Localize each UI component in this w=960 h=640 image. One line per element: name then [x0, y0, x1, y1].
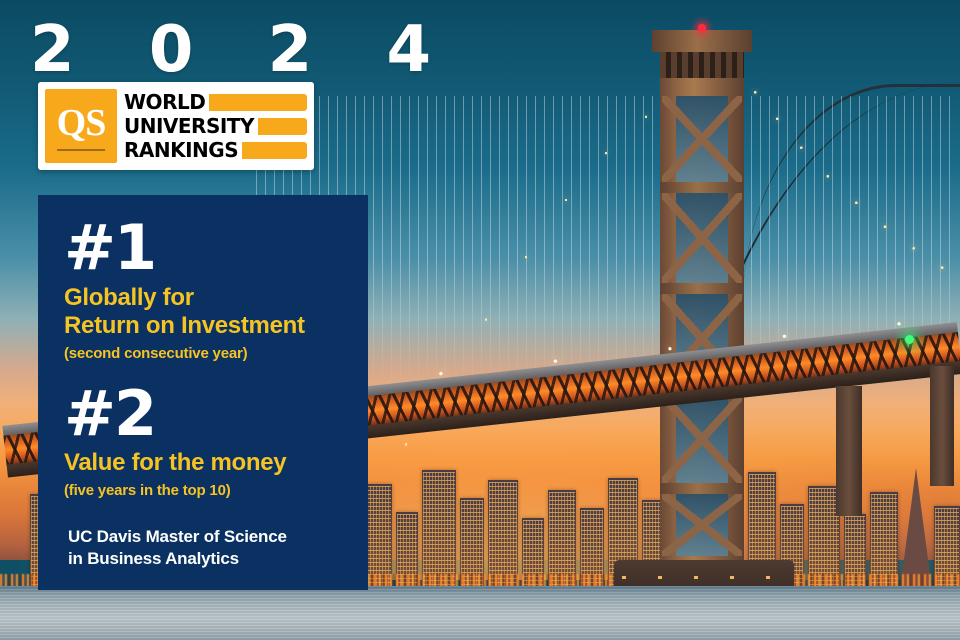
rank-number-2: #2 [64, 385, 346, 444]
qs-word-university: UNIVERSITY [124, 116, 254, 136]
program-name-line1: UC Davis Master of Science [68, 526, 346, 548]
qs-word-rankings: RANKINGS [124, 140, 238, 160]
ranking-block-1: #1 Globally for Return on Investment (se… [64, 219, 346, 363]
qs-logo-line-world: WORLD [124, 91, 307, 113]
navigation-green-light [905, 335, 914, 344]
rankings-info-panel: #1 Globally for Return on Investment (se… [38, 195, 368, 590]
rank-number-1: #1 [64, 219, 346, 278]
qs-logo-line-university: UNIVERSITY [124, 115, 307, 137]
qs-logo-line-rankings: RANKINGS [124, 139, 307, 161]
rank-note-1: (second consecutive year) [64, 345, 346, 363]
qs-monogram-underline [57, 149, 105, 151]
program-name: UC Davis Master of Science in Business A… [68, 526, 346, 570]
ranking-block-2: #2 Value for the money (five years in th… [64, 385, 346, 501]
qs-accent-bar-2 [258, 118, 307, 135]
cable-necklace-lights-right [742, 78, 960, 318]
program-name-line2: in Business Analytics [68, 548, 346, 570]
qs-accent-bar-3 [242, 142, 307, 159]
qs-word-world: WORLD [124, 92, 205, 112]
aviation-beacon-light [698, 24, 706, 32]
tower-top-slots [660, 52, 744, 78]
qs-logo-wordmark: WORLD UNIVERSITY RANKINGS [124, 89, 307, 163]
qs-world-university-rankings-logo: QS WORLD UNIVERSITY RANKINGS [38, 82, 314, 170]
qs-monogram: QS [57, 104, 106, 142]
rank-headline-1-line1: Globally for [64, 284, 346, 312]
rank-headline-1-line2: Return on Investment [64, 312, 346, 340]
bay-water [0, 586, 960, 640]
tower-cap [652, 30, 752, 52]
qs-accent-bar-1 [209, 94, 307, 111]
poster-canvas: 2 0 2 4 QS WORLD UNIVERSITY RANKINGS #1 [0, 0, 960, 640]
rank-headline-2-line1: Value for the money [64, 449, 346, 477]
rank-note-2: (five years in the top 10) [64, 482, 346, 500]
rank-headline-2: Value for the money [64, 449, 346, 477]
rank-headline-1: Globally for Return on Investment [64, 284, 346, 340]
qs-logo-mark: QS [45, 89, 117, 163]
year-label: 2 0 2 4 [30, 18, 457, 82]
